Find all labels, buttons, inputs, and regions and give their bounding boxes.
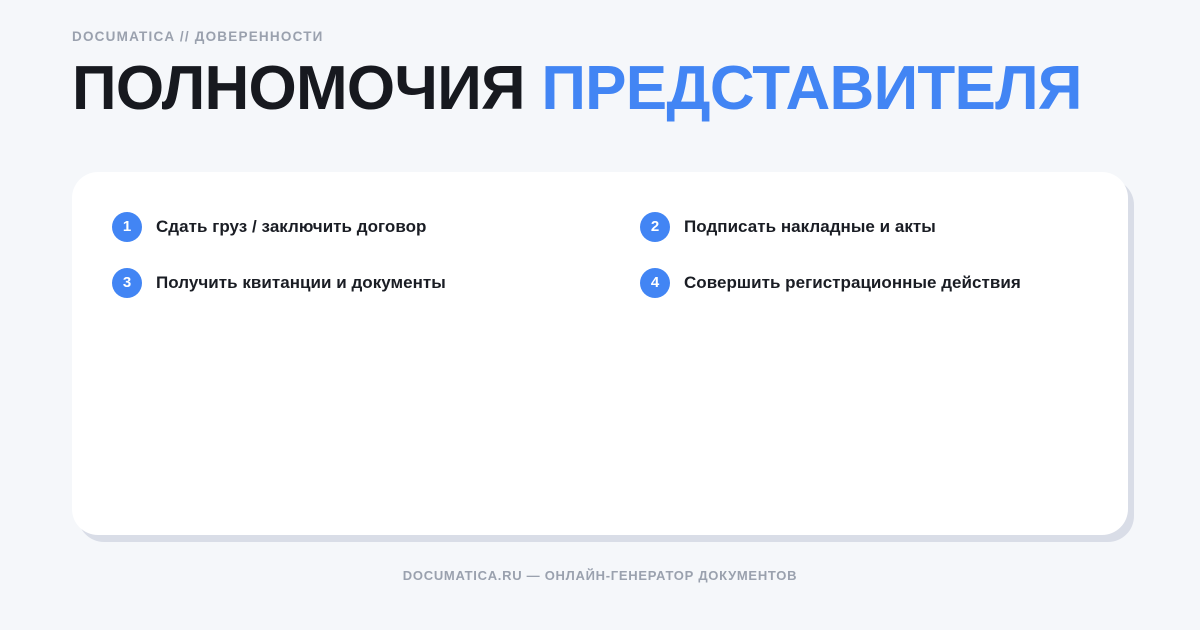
list-item[interactable]: 2 Подписать накладные и акты (640, 210, 1168, 244)
item-number-badge: 2 (640, 212, 670, 242)
poster-root: DOCUMATICA // ДОВЕРЕННОСТИ ПОЛНОМОЧИЯ ПР… (0, 0, 1200, 630)
list-item[interactable]: 4 Совершить регистрационные действия (640, 266, 1168, 300)
list-item[interactable]: 3 Получить квитанции и документы (112, 266, 640, 300)
list-item-label: Сдать груз / заключить договор (156, 217, 426, 237)
item-number-badge: 4 (640, 268, 670, 298)
page-title: ПОЛНОМОЧИЯ ПРЕДСТАВИТЕЛЯ (72, 57, 1132, 120)
powers-list: 1 Сдать груз / заключить договор 2 Подпи… (112, 210, 1084, 300)
page-title-primary: ПОЛНОМОЧИЯ (72, 54, 525, 123)
list-item[interactable]: 1 Сдать груз / заключить договор (112, 210, 640, 244)
list-item-label: Получить квитанции и документы (156, 273, 446, 293)
page-title-accent: ПРЕДСТАВИТЕЛЯ (541, 54, 1081, 123)
footer-caption: DOCUMATICA.RU — ОНЛАЙН-ГЕНЕРАТОР ДОКУМЕН… (0, 568, 1200, 583)
header: DOCUMATICA // ДОВЕРЕННОСТИ ПОЛНОМОЧИЯ ПР… (72, 30, 1132, 161)
list-item-label: Совершить регистрационные действия (684, 273, 1021, 293)
page-title-space (525, 54, 541, 123)
content-card: 1 Сдать груз / заключить договор 2 Подпи… (72, 172, 1128, 535)
item-number-badge: 3 (112, 268, 142, 298)
breadcrumb: DOCUMATICA // ДОВЕРЕННОСТИ (72, 30, 1132, 44)
list-item-label: Подписать накладные и акты (684, 217, 936, 237)
content-card-wrapper: 1 Сдать груз / заключить договор 2 Подпи… (72, 172, 1128, 535)
item-number-badge: 1 (112, 212, 142, 242)
